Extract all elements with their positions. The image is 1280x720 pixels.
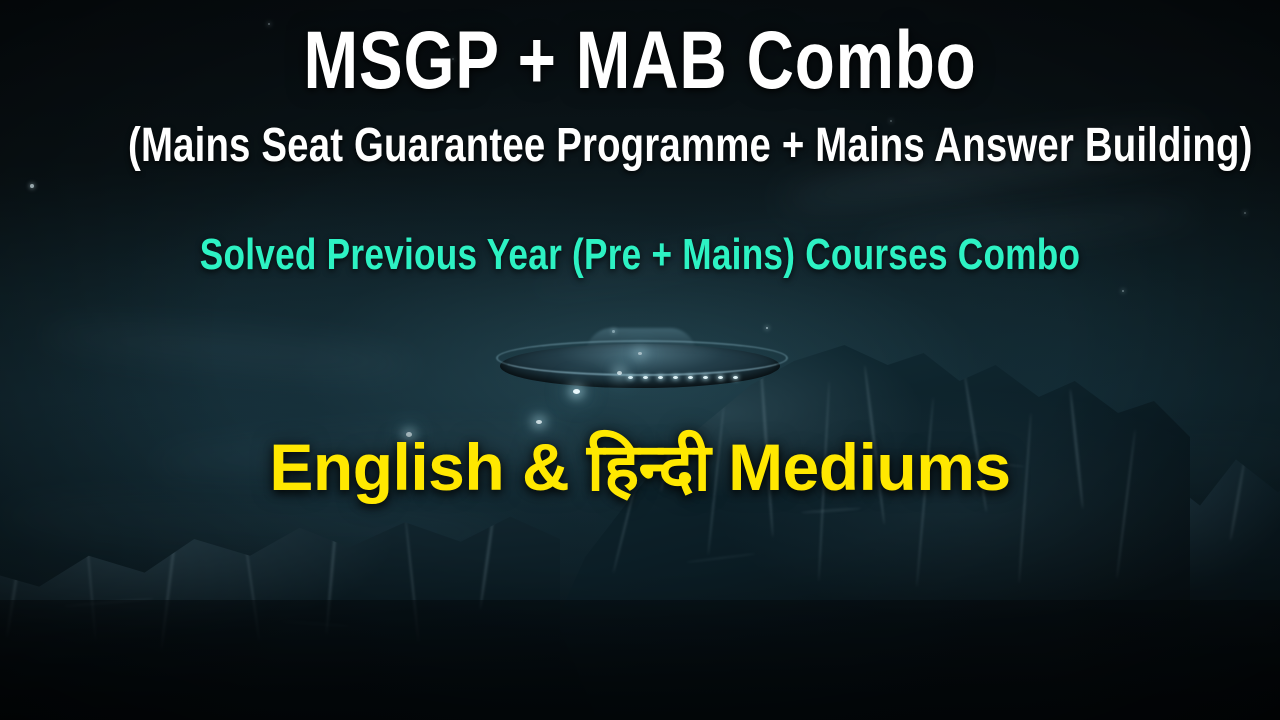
- text-layer: MSGP + MAB Combo (Mains Seat Guarantee P…: [0, 0, 1280, 720]
- page-title: MSGP + MAB Combo: [128, 20, 1152, 102]
- mediums-line: English & हिन्दी Mediums: [0, 432, 1280, 503]
- tagline: Solved Previous Year (Pre + Mains) Cours…: [128, 233, 1152, 277]
- mediums-hindi: हिन्दी: [587, 429, 710, 506]
- mediums-prefix: English &: [269, 430, 587, 504]
- mediums-suffix: Mediums: [710, 430, 1010, 504]
- page-subtitle: (Mains Seat Guarantee Programme + Mains …: [128, 122, 1152, 170]
- promo-banner: MSGP + MAB Combo (Mains Seat Guarantee P…: [0, 0, 1280, 720]
